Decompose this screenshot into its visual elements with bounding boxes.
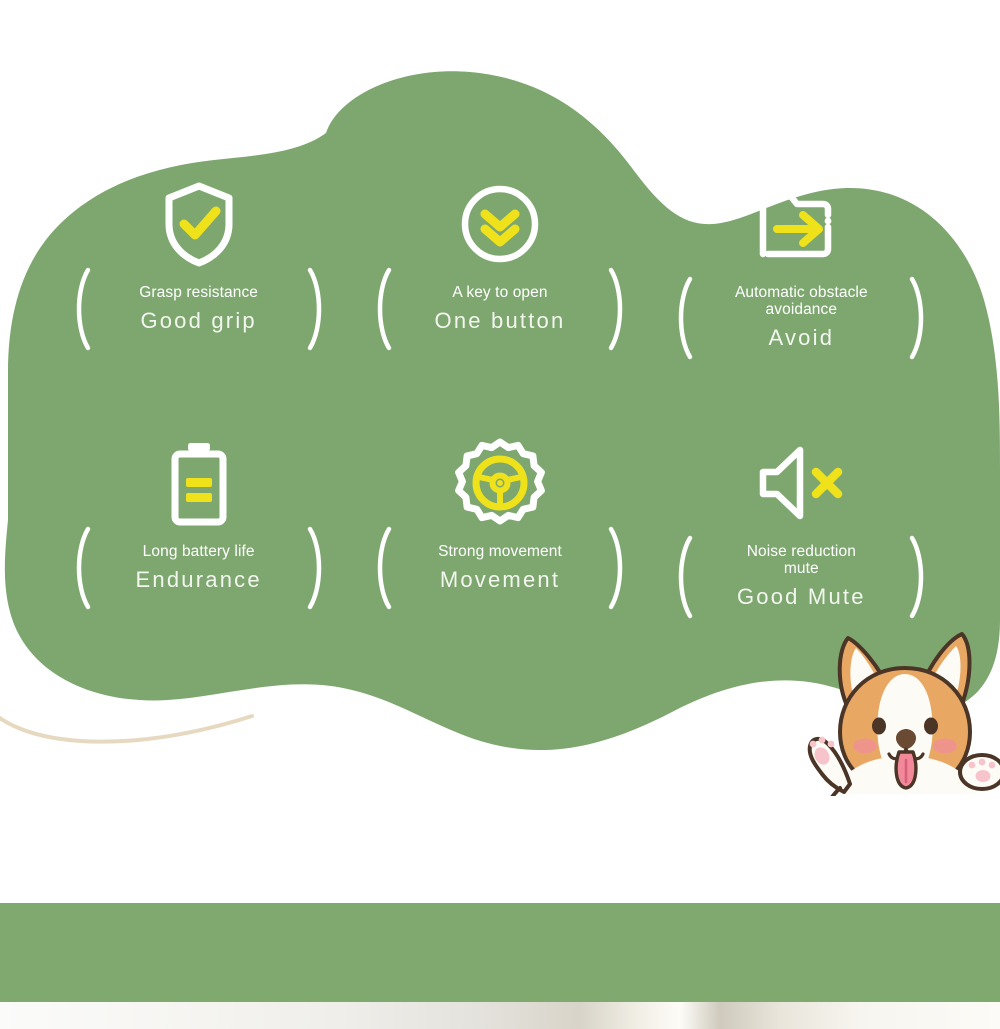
beige-curve-line xyxy=(0,676,294,766)
feature-subtitle: Noise reduction mute xyxy=(747,543,856,577)
corgi-blush-left xyxy=(853,739,877,754)
corgi-paw-right xyxy=(960,755,1000,789)
bracket-right-icon xyxy=(303,266,329,352)
battery-icon xyxy=(48,437,349,529)
bracket-left-icon xyxy=(69,525,95,611)
caption-block: Strong movement Movement xyxy=(370,543,630,593)
feature-title: Avoid xyxy=(769,325,835,351)
bracket-right-icon xyxy=(604,266,630,352)
gear-steering-wheel-icon xyxy=(349,437,650,529)
banner-stage: Grasp resistance Good grip A ke xyxy=(0,0,1000,1029)
caption-block: Long battery life Endurance xyxy=(69,543,329,593)
corgi-blush-right xyxy=(933,739,957,754)
feature-item-obstacle-avoidance[interactable]: Automatic obstacle avoidance Avoid xyxy=(651,178,952,373)
speaker-mute-icon xyxy=(651,437,952,529)
feature-title: Good grip xyxy=(140,308,256,334)
feature-subtitle: Strong movement xyxy=(438,543,562,560)
feature-subtitle: Automatic obstacle avoidance xyxy=(735,284,868,318)
feature-title: Endurance xyxy=(136,567,262,593)
feature-title: Movement xyxy=(440,567,560,593)
green-surface-band xyxy=(0,903,1000,1002)
white-gap xyxy=(0,868,1000,903)
bracket-right-icon xyxy=(905,534,931,620)
bracket-left-icon xyxy=(671,534,697,620)
shield-check-icon xyxy=(48,178,349,270)
feature-item-grasp-resistance[interactable]: Grasp resistance Good grip xyxy=(48,178,349,373)
bracket-left-icon xyxy=(671,275,697,361)
bracket-right-icon xyxy=(905,275,931,361)
bracket-right-icon xyxy=(604,525,630,611)
bracket-left-icon xyxy=(69,266,95,352)
feature-title: One button xyxy=(435,308,566,334)
bracket-left-icon xyxy=(370,266,396,352)
bracket-right-icon xyxy=(303,525,329,611)
feature-title: Good Mute xyxy=(737,584,866,610)
feature-item-long-battery-life[interactable]: Long battery life Endurance xyxy=(48,437,349,632)
feature-subtitle: A key to open xyxy=(452,284,547,301)
feature-item-one-key-open[interactable]: A key to open One button xyxy=(349,178,650,373)
feature-item-noise-reduction[interactable]: Noise reduction mute Good Mute xyxy=(651,437,952,632)
corgi-eye-left xyxy=(872,718,886,735)
metallic-edge-strip xyxy=(0,1002,1000,1029)
caption-block: Automatic obstacle avoidance Avoid xyxy=(671,284,931,351)
circle-double-chevron-down-icon xyxy=(349,178,650,270)
corgi-eye-right xyxy=(924,718,938,735)
caption-block: Noise reduction mute Good Mute xyxy=(671,543,931,610)
folder-arrow-right-icon xyxy=(651,178,952,270)
caption-block: A key to open One button xyxy=(370,284,630,334)
feature-subtitle: Grasp resistance xyxy=(139,284,258,301)
feature-item-strong-movement[interactable]: Strong movement Movement xyxy=(349,437,650,632)
bracket-left-icon xyxy=(370,525,396,611)
feature-subtitle: Long battery life xyxy=(143,543,255,560)
caption-block: Grasp resistance Good grip xyxy=(69,284,329,334)
corgi-dog-illustration xyxy=(802,616,1000,796)
